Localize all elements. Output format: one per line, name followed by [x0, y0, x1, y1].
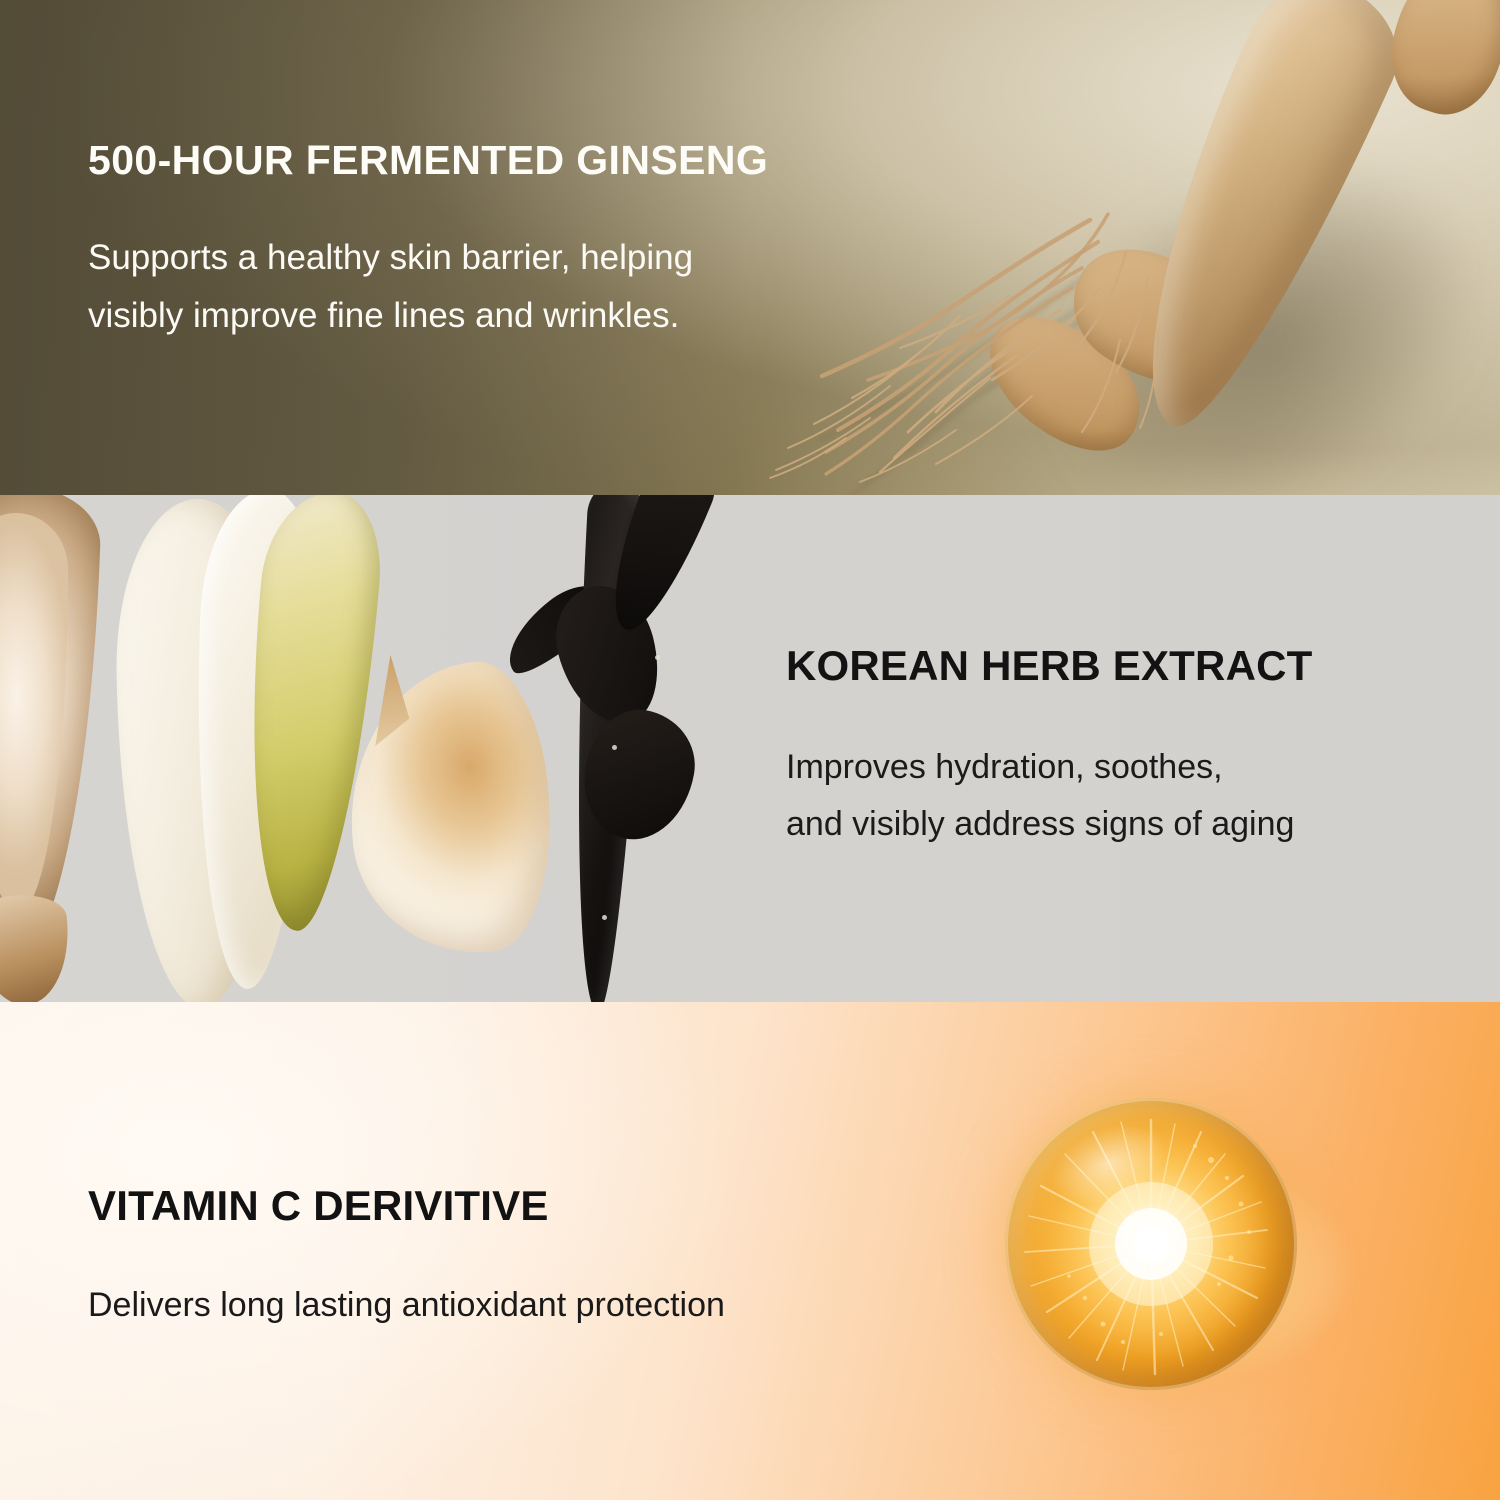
- panel-korean-herb-title: KOREAN HERB EXTRACT: [786, 645, 1446, 687]
- panel-korean-herb-text-block: KOREAN HERB EXTRACT Improves hydration, …: [786, 645, 1446, 853]
- panel-korean-herb-body-line-1: Improves hydration, soothes,: [786, 748, 1223, 786]
- panel-ginseng-text-block: 500-HOUR FERMENTED GINSENG Supports a he…: [88, 140, 918, 345]
- panel-vitamin-c-text-block: VITAMIN C DERIVITIVE Delivers long lasti…: [88, 1185, 928, 1327]
- korean-herb-imagery: [0, 495, 770, 1002]
- cream-curved-shell-petal: [335, 655, 564, 964]
- panel-vitamin-c-title: VITAMIN C DERIVITIVE: [88, 1185, 928, 1227]
- black-root-speck: [612, 745, 617, 750]
- black-root-speck: [602, 915, 607, 920]
- panel-vitamin-c-body: Delivers long lasting antioxidant protec…: [88, 1283, 928, 1327]
- panel-ginseng-title: 500-HOUR FERMENTED GINSENG: [88, 140, 918, 181]
- ingredient-benefits-infographic: 500-HOUR FERMENTED GINSENG Supports a he…: [0, 0, 1500, 1500]
- black-root-speck: [655, 655, 660, 660]
- panel-korean-herb: KOREAN HERB EXTRACT Improves hydration, …: [0, 495, 1500, 1002]
- dried-root-slice-base: [0, 890, 75, 1002]
- panel-korean-herb-body-line-2: and visibly address signs of aging: [786, 805, 1294, 843]
- panel-korean-herb-body: Improves hydration, soothes, and visibly…: [786, 739, 1446, 853]
- panel-ginseng-body-line-2: visibly improve fine lines and wrinkles.: [88, 296, 679, 335]
- panel-ginseng-body-line-1: Supports a healthy skin barrier, helping: [88, 238, 693, 277]
- panel-ginseng-body: Supports a healthy skin barrier, helping…: [88, 229, 918, 345]
- panel-ginseng: 500-HOUR FERMENTED GINSENG Supports a he…: [0, 0, 1500, 495]
